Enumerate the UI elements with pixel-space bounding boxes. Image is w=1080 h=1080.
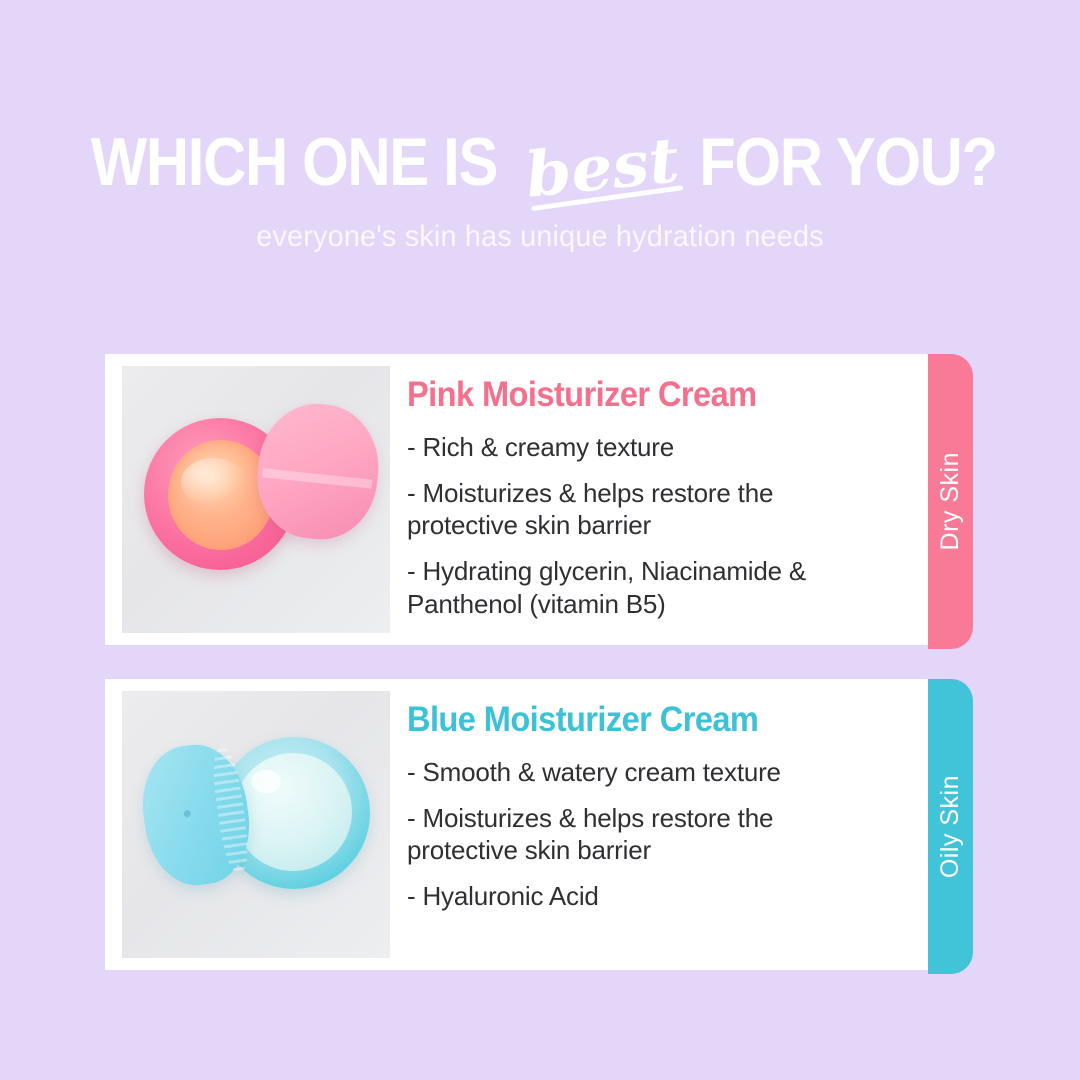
title-part-1: WHICH ONE IS: [91, 128, 497, 196]
title-script-word: best: [518, 129, 686, 208]
product-card-blue[interactable]: Blue Moisturizer Cream - Smooth & watery…: [105, 679, 928, 970]
skin-type-tab-label: Dry Skin: [936, 452, 965, 550]
card-body-pink: Pink Moisturizer Cream - Rich & creamy t…: [390, 354, 928, 634]
page-subtitle: everyone's skin has unique hydration nee…: [22, 220, 1059, 254]
product-bullet: - Rich & creamy texture: [407, 431, 877, 463]
product-title-blue: Blue Moisturizer Cream: [407, 702, 892, 739]
product-title-pink: Pink Moisturizer Cream: [407, 377, 892, 414]
jar-cream-icon: [234, 753, 352, 871]
product-image-pink: [122, 366, 390, 633]
skin-type-tab-label: Oily Skin: [936, 775, 965, 878]
title-part-2: FOR YOU?: [699, 128, 997, 196]
page-title: WHICH ONE IS best FOR YOU?: [0, 128, 1080, 196]
skin-type-tab-dry[interactable]: Dry Skin: [928, 354, 973, 649]
product-bullet: - Moisturizes & helps restore the protec…: [407, 802, 877, 866]
product-bullet: - Hyaluronic Acid: [407, 880, 877, 912]
product-bullet: - Hydrating glycerin, Niacinamide & Pant…: [407, 555, 877, 619]
product-image-blue: [122, 691, 390, 958]
product-bullet: - Moisturizes & helps restore the protec…: [407, 477, 877, 541]
card-body-blue: Blue Moisturizer Cream - Smooth & watery…: [390, 679, 928, 927]
product-card-pink[interactable]: Pink Moisturizer Cream - Rich & creamy t…: [105, 354, 928, 645]
product-bullet: - Smooth & watery cream texture: [407, 756, 877, 788]
header: WHICH ONE IS best FOR YOU? everyone's sk…: [0, 0, 1080, 254]
skin-type-tab-oily[interactable]: Oily Skin: [928, 679, 973, 974]
jar-cream-icon: [168, 440, 274, 550]
